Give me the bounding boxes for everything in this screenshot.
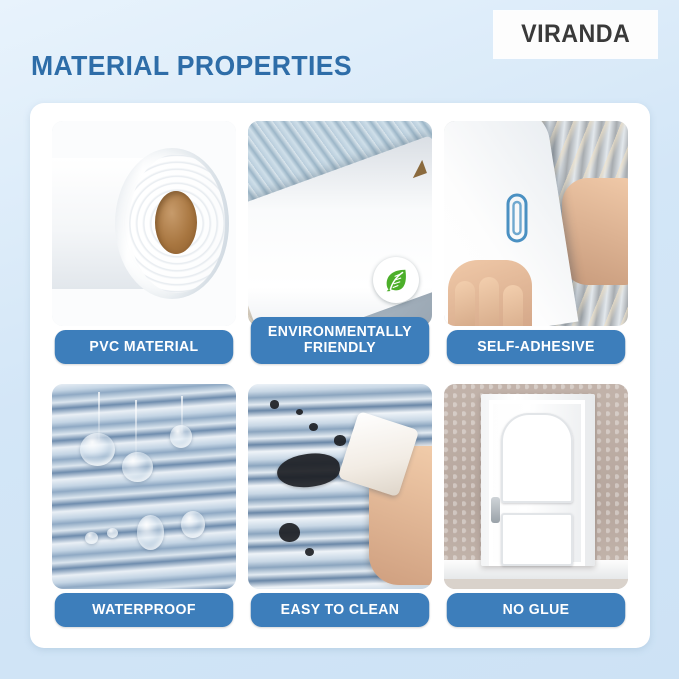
- eco-peel-image: [248, 121, 432, 326]
- paperclip-icon: [503, 191, 531, 250]
- page-header: MATERIAL PROPERTIES VIRANDA: [0, 0, 679, 103]
- feature-label-banner: EASY TO CLEAN: [251, 593, 429, 627]
- pvc-roll-image: [52, 121, 236, 326]
- feature-label-banner: PVC MATERIAL: [55, 330, 233, 364]
- feature-cell-waterproof[interactable]: WATERPROOF: [52, 378, 236, 635]
- feature-cell-easy-to-clean[interactable]: EASY TO CLEAN: [248, 378, 432, 635]
- feature-label-banner: WATERPROOF: [55, 593, 233, 627]
- brand-logo-text: VIRANDA: [521, 20, 630, 49]
- features-grid: PVC MATERIAL: [52, 115, 628, 635]
- self-adhesive-image: [444, 121, 628, 326]
- no-glue-door-image: [444, 384, 628, 589]
- waterproof-image: [52, 384, 236, 589]
- feature-cell-pvc-material[interactable]: PVC MATERIAL: [52, 115, 236, 372]
- page-title: MATERIAL PROPERTIES: [31, 50, 352, 82]
- features-card: PVC MATERIAL: [30, 103, 650, 648]
- brand-logo: VIRANDA: [494, 11, 657, 58]
- feature-cell-environmentally-friendly[interactable]: ENVIRONMENTALLY FRIENDLY: [248, 115, 432, 372]
- feature-cell-self-adhesive[interactable]: SELF-ADHESIVE: [444, 115, 628, 372]
- feature-label-banner: ENVIRONMENTALLY FRIENDLY: [251, 317, 429, 364]
- feature-cell-no-glue[interactable]: NO GLUE: [444, 378, 628, 635]
- easy-to-clean-image: [248, 384, 432, 589]
- feature-label-banner: SELF-ADHESIVE: [447, 330, 625, 364]
- feature-label-banner: NO GLUE: [447, 593, 625, 627]
